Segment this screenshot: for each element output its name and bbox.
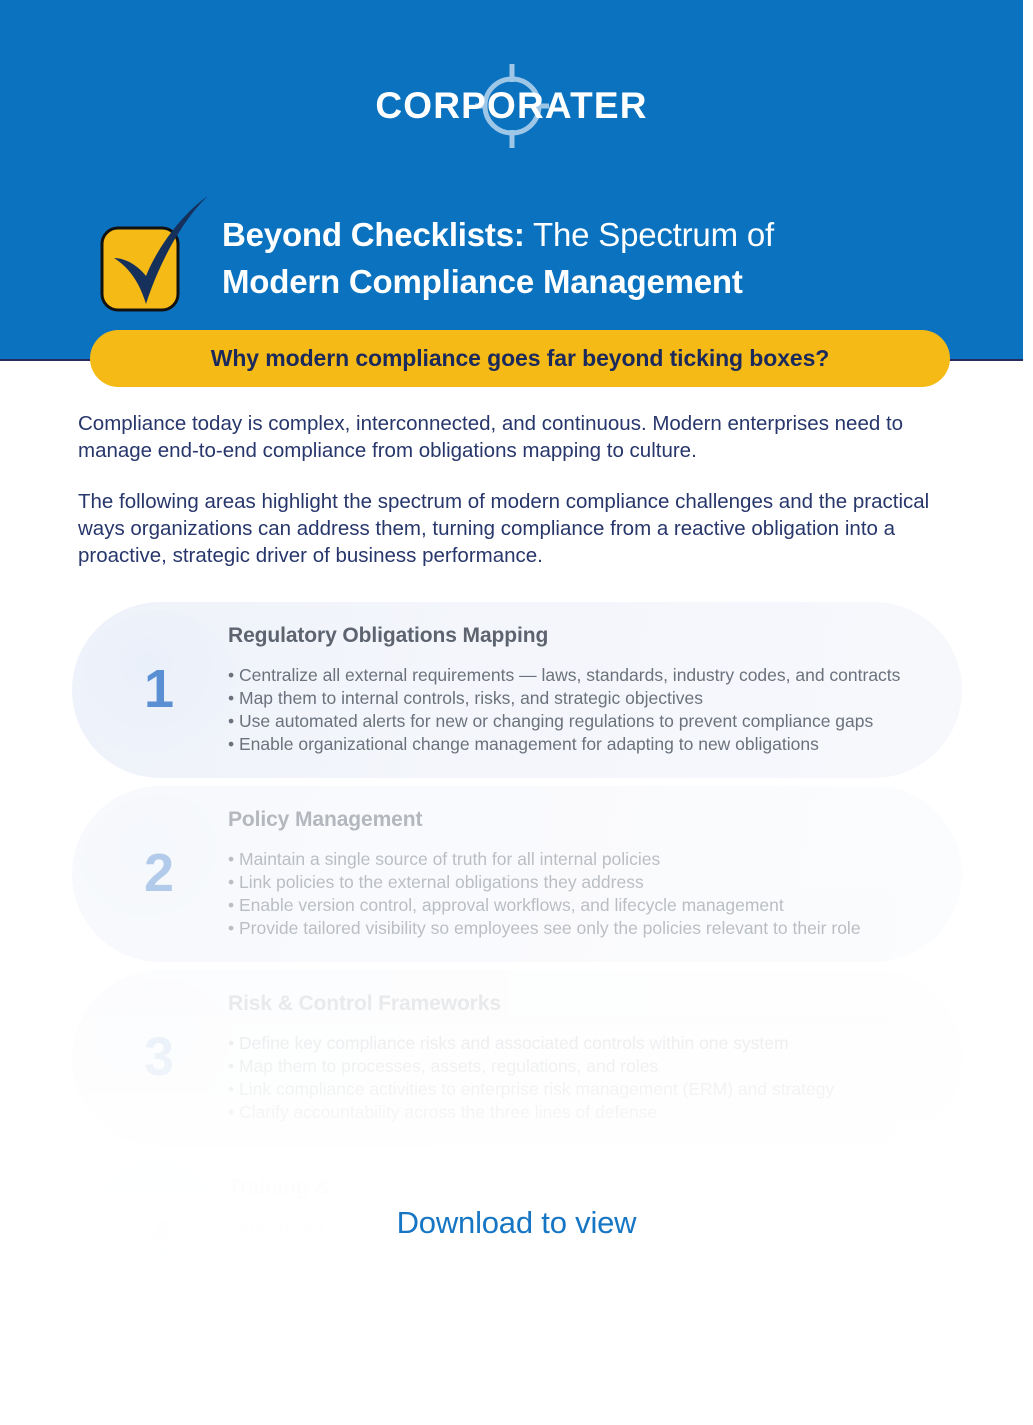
page-title: Beyond Checklists: The Spectrum of Moder… <box>222 190 774 306</box>
section-heading: Training & <box>228 1176 952 1200</box>
list-item: Link compliance activities to enterprise… <box>228 1078 952 1101</box>
list-item: Centralize all external requirements — l… <box>228 664 952 687</box>
document-page: CORPORATER Beyond Checklists: The Spectr… <box>0 0 1033 1425</box>
list-item: Map them to internal controls, risks, an… <box>228 687 952 710</box>
list-item: Provide tailored visibility so employees… <box>228 917 952 940</box>
section-card-4: 4 Training & Automated Integrated Role-b… <box>72 1154 962 1330</box>
list-item <box>228 1285 952 1308</box>
section-bullets: Centralize all external requirements — l… <box>228 664 952 756</box>
list-item: Clarify accountability across the three … <box>228 1101 952 1124</box>
list-item: Map them to processes, assets, regulatio… <box>228 1055 952 1078</box>
list-item: Enable version control, approval workflo… <box>228 894 952 917</box>
subtitle-pill: Why modern compliance goes far beyond ti… <box>90 330 950 387</box>
title-regular: The Spectrum of <box>525 216 774 253</box>
list-item: Enable organizational change management … <box>228 733 952 756</box>
brand-logo: CORPORATER <box>0 62 1023 150</box>
list-item: Maintain a single source of truth for al… <box>228 848 952 871</box>
intro-paragraph-2: The following areas highlight the spectr… <box>78 488 968 569</box>
download-to-view-link[interactable]: Download to view <box>0 1205 1033 1241</box>
brand-name: CORPORATER <box>375 85 647 127</box>
title-row: Beyond Checklists: The Spectrum of Moder… <box>96 190 976 316</box>
section-heading: Regulatory Obligations Mapping <box>228 624 952 648</box>
section-number-circle: 3 <box>80 978 238 1136</box>
intro-text: Compliance today is complex, interconnec… <box>78 410 968 569</box>
section-card-2: 2 Policy Management Maintain a single so… <box>72 786 962 962</box>
section-number: 1 <box>144 662 174 716</box>
section-number-circle: 4 <box>80 1162 238 1320</box>
list-item: Integrated <box>228 1239 952 1262</box>
section-bullets: Maintain a single source of truth for al… <box>228 848 952 940</box>
list-item: Use automated alerts for new or changing… <box>228 710 952 733</box>
intro-paragraph-1: Compliance today is complex, interconnec… <box>78 410 968 464</box>
section-number-circle: 2 <box>80 794 238 952</box>
section-bullets: Define key compliance risks and associat… <box>228 1032 952 1124</box>
section-card-3: 3 Risk & Control Frameworks Define key c… <box>72 970 962 1146</box>
yellow-checkbox-checkmark-icon <box>96 196 208 316</box>
title-line2: Modern Compliance Management <box>222 259 774 306</box>
section-heading: Policy Management <box>228 808 952 832</box>
section-card-1: 1 Regulatory Obligations Mapping Central… <box>72 602 962 778</box>
section-number: 2 <box>144 846 174 900</box>
list-item: Define key compliance risks and associat… <box>228 1032 952 1055</box>
title-bold: Beyond Checklists: <box>222 216 525 253</box>
list-item: Role-based content <box>228 1262 952 1285</box>
list-item: Link policies to the external obligation… <box>228 871 952 894</box>
subtitle-pill-label: Why modern compliance goes far beyond ti… <box>211 345 829 372</box>
section-number-circle: 1 <box>80 610 238 768</box>
download-to-view-label: Download to view <box>397 1205 637 1240</box>
section-heading: Risk & Control Frameworks <box>228 992 952 1016</box>
page-header: CORPORATER Beyond Checklists: The Spectr… <box>0 0 1023 361</box>
section-number: 3 <box>144 1030 174 1084</box>
